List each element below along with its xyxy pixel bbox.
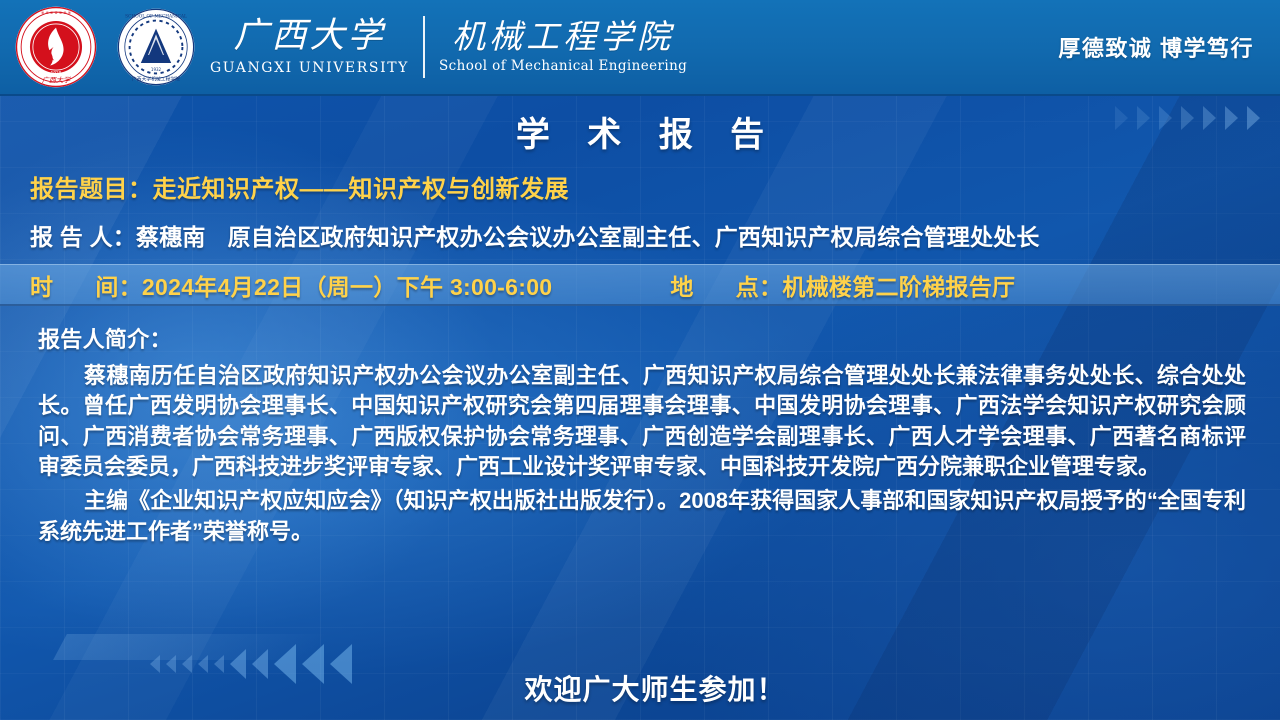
report-speaker-label: 报 告 人： — [30, 224, 136, 250]
svg-text:SCHOOL OF MECHANICAL: SCHOOL OF MECHANICAL — [125, 14, 187, 19]
svg-text:广西大学: 广西大学 — [42, 75, 71, 84]
header-wordmark: 广西大学 GUANGXI UNIVERSITY 机械工程学院 School of… — [210, 16, 687, 78]
poster-content: 学 术 报 告 报告题目：走近知识产权——知识产权与创新发展 报 告 人：蔡穗南… — [0, 107, 1280, 252]
time-and-place-band: 时间：2024年4月22日（周一）下午 3:00-6:00 地点：机械楼第二阶梯… — [0, 264, 1280, 306]
poster-header: ※ ※ ※ ※ ※ ※ ※ 广西大学 1928 SCHOOL OF MECHAN… — [0, 0, 1280, 96]
report-topic-label: 报告题目： — [30, 176, 153, 203]
arrow-streak-decoration — [53, 634, 327, 660]
poster-root: ※ ※ ※ ※ ※ ※ ※ 广西大学 1928 SCHOOL OF MECHAN… — [0, 0, 1280, 720]
report-time-value: 2024年4月22日（周一）下午 3:00-6:00 — [142, 274, 552, 300]
place-label-colon: 点： — [736, 274, 783, 300]
university-motto: 厚德致诚 博学笃行 — [1058, 31, 1262, 63]
report-speaker-name: 蔡穗南 — [136, 224, 206, 250]
page-title: 学 术 报 告 — [16, 107, 1264, 156]
guangxi-university-seal-icon: ※ ※ ※ ※ ※ ※ ※ 广西大学 1928 — [14, 5, 98, 89]
report-topic-value: 走近知识产权——知识产权与创新发展 — [153, 176, 570, 203]
svg-text:※ ※ ※ ※ ※ ※ ※: ※ ※ ※ ※ ※ ※ ※ — [41, 10, 71, 15]
place-label: 地 — [670, 274, 693, 300]
biography-heading: 报告人简介： — [38, 322, 1264, 354]
biography-paragraph-1: 蔡穗南历任自治区政府知识产权办公会议办公室副主任、广西知识产权局综合管理处处长兼… — [38, 361, 1246, 482]
report-time-line: 时间：2024年4月22日（周一）下午 3:00-6:00 — [30, 268, 552, 302]
report-place-line: 地点：机械楼第二阶梯报告厅 — [670, 268, 1015, 302]
report-place-value: 机械楼第二阶梯报告厅 — [782, 274, 1015, 300]
time-label: 时 — [30, 274, 53, 300]
svg-text:1928: 1928 — [51, 71, 62, 76]
report-topic-line: 报告题目：走近知识产权——知识产权与创新发展 — [30, 169, 1264, 204]
poster-biography-section: 报告人简介： 蔡穗南历任自治区政府知识产权办公会议办公室副主任、广西知识产权局综… — [0, 322, 1280, 547]
svg-text:1932: 1932 — [151, 67, 162, 72]
school-name-en: School of Mechanical Engineering — [439, 60, 687, 74]
wordmark-divider — [423, 16, 425, 78]
biography-paragraph-2: 主编《企业知识产权应知应会》（知识产权出版社出版发行）。2008年获得国家人事部… — [38, 486, 1246, 547]
welcome-message: 欢迎广大师生参加！ — [0, 668, 1280, 708]
school-name-cn: 机械工程学院 — [452, 20, 674, 53]
report-speaker-title: 原自治区政府知识产权办公会议办公室副主任、广西知识产权局综合管理处处长 — [228, 224, 1040, 250]
time-label-colon: 间： — [95, 274, 142, 300]
university-name-cn: 广西大学 — [233, 19, 385, 54]
university-name-en: GUANGXI UNIVERSITY — [210, 61, 409, 75]
school-of-mechanical-engineering-seal-icon: SCHOOL OF MECHANICAL 1932 广西大学机械工程学院 — [116, 7, 196, 87]
report-speaker-line: 报 告 人：蔡穗南原自治区政府知识产权办公会议办公室副主任、广西知识产权局综合管… — [30, 218, 1264, 252]
